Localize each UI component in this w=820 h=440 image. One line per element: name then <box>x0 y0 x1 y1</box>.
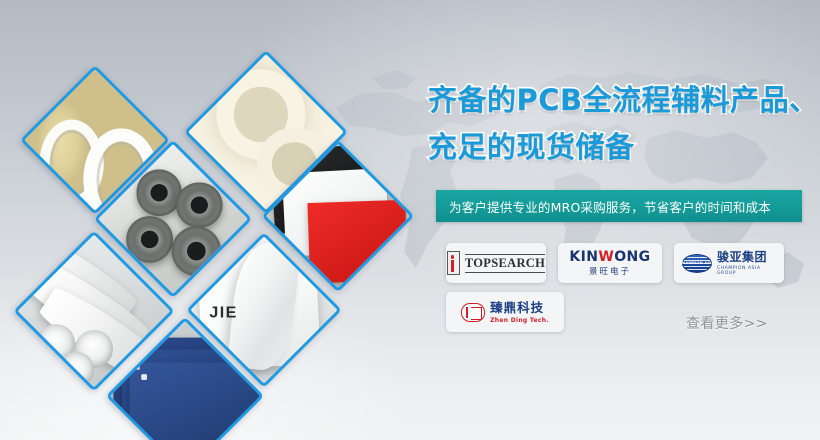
wheel-item <box>127 216 173 262</box>
partner-logo-topsearch[interactable]: TOPSEARCH <box>446 243 546 283</box>
kinwong-wordmark-icon: KINWONG <box>569 249 650 265</box>
navy-sheet <box>129 362 259 440</box>
globe-label: CHAMPION ASIA <box>679 261 714 265</box>
sheet-corner-dot <box>134 363 140 369</box>
sheet-corner-dot <box>142 374 148 380</box>
kinwong-name-cn: 景旺电子 <box>569 268 650 277</box>
roll-end <box>59 352 94 387</box>
champion-asia-globe-icon: CHAMPION ASIA <box>682 254 712 273</box>
topsearch-wordmark: TOPSEARCH <box>465 254 545 273</box>
zhen-ding-mark-icon <box>461 303 485 322</box>
tile-overlay-text: JIE <box>209 304 237 322</box>
headline-line-2: 充足的现货储备 <box>428 125 814 170</box>
partner-logo-champion-asia[interactable]: CHAMPION ASIA 骏亚集团 CHAMPION ASIA GROUP <box>674 243 784 283</box>
promo-banner: JIE 齐备的PCB全流程辅料产品、 充足的现货储备 为客户提供专业的MRO采购… <box>0 0 820 440</box>
topsearch-mark-icon <box>447 251 460 275</box>
banner-copy: 齐备的PCB全流程辅料产品、 充足的现货储备 <box>428 78 814 170</box>
partner-logo-row-1: TOPSEARCH KINWONG 景旺电子 CHAMPION ASIA 骏亚集… <box>446 243 784 283</box>
wheel-item <box>171 227 221 277</box>
partner-logo-zhen-ding[interactable]: 臻鼎科技 Zhen Ding Tech. <box>446 292 564 332</box>
headline-line-1: 齐备的PCB全流程辅料产品、 <box>428 78 814 123</box>
partner-logo-row-2: 臻鼎科技 Zhen Ding Tech. <box>446 292 564 332</box>
partner-logo-kinwong[interactable]: KINWONG 景旺电子 <box>558 243 662 283</box>
zhen-ding-name-en: Zhen Ding Tech. <box>490 318 549 324</box>
champion-asia-name-cn: 骏亚集团 <box>717 250 767 264</box>
champion-asia-name-en: CHAMPION ASIA GROUP <box>717 267 776 276</box>
sheet-red <box>307 199 408 283</box>
subtitle-text: 为客户提供专业的MRO采购服务，节省客户的时间和成本 <box>449 197 771 216</box>
subtitle-bar: 为客户提供专业的MRO采购服务，节省客户的时间和成本 <box>436 190 802 222</box>
zhen-ding-name-cn: 臻鼎科技 <box>490 300 544 315</box>
wheel-item <box>176 182 222 228</box>
view-more-link[interactable]: 查看更多>> <box>686 313 768 333</box>
